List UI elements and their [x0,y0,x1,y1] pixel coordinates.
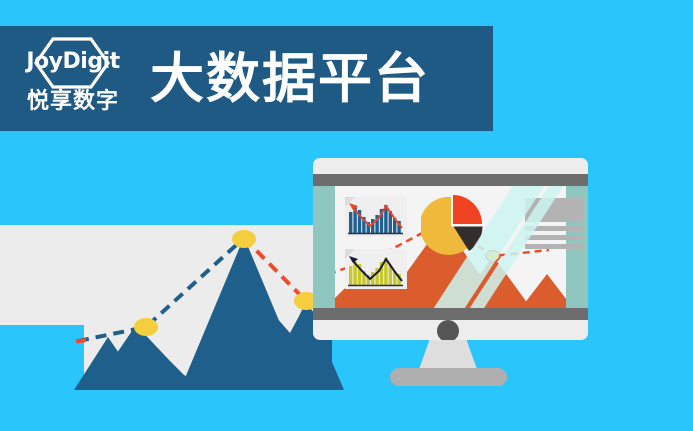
background-light-strip [0,225,84,325]
monitor-bezel-bottom [313,308,588,320]
area-chart-peak-far-right [521,274,566,308]
screen-side-band-left [313,186,335,308]
bar-series-yellow [349,258,401,285]
data-point-marker [232,230,256,248]
text-line [525,244,583,249]
banner-illustration: JoyDigit 悦享数字 大数据平台 [0,0,693,431]
data-point-marker [134,318,158,336]
monitor-bezel-top [313,174,588,186]
text-line [525,235,583,240]
header-banner: JoyDigit 悦享数字 大数据平台 [0,26,493,131]
bar-chart-card-blue [345,197,407,237]
logo-wordmark: JoyDigit [14,49,132,75]
monitor-power-dot-icon [437,320,459,342]
monitor-stand-base [390,368,507,386]
left-mountain-chart-panel [84,225,332,390]
logo-subtitle: 悦享数字 [14,88,132,114]
card-fold-corner-icon [345,197,355,207]
monitor [313,158,588,340]
bar-series-blue [349,205,401,233]
brand-logo: JoyDigit 悦享数字 [14,35,132,123]
trend-line-stub-red [76,340,86,342]
bar-chart-card-yellow [345,249,407,289]
left-mountain-chart-svg [84,225,332,390]
card-fold-corner-icon [345,249,355,259]
monitor-screen [313,186,588,308]
pie-slice-red [453,195,482,224]
page-title: 大数据平台 [150,52,430,106]
